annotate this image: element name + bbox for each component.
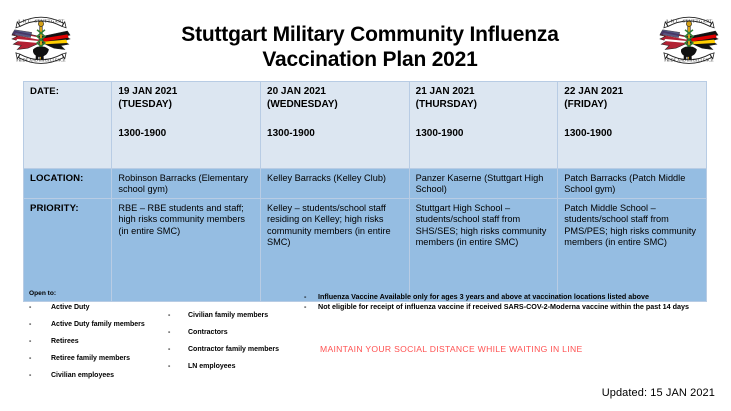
day-value-1: (WEDNESDAY) [267, 99, 338, 110]
list-item: - Civilian family members [168, 312, 298, 329]
open-to-item-7: Contractor family members [188, 346, 279, 353]
page-title-line-2: Vaccination Plan 2021 [120, 47, 620, 72]
eligibility-note-text-0: Influenza Vaccine Available only for age… [318, 292, 649, 301]
updated-timestamp: Updated: 15 JAN 2021 [602, 387, 715, 399]
notes-section: Open to: - Active Duty - Active Duty fam… [0, 290, 731, 390]
time-value-3: 1300-1900 [564, 128, 612, 139]
list-item: - Contractors [168, 329, 298, 346]
day-value-3: (FRIDAY) [564, 99, 607, 110]
open-to-item-6: Contractors [188, 329, 228, 336]
open-to-list-column-1: - Active Duty - Active Duty family membe… [29, 304, 169, 389]
open-to-item-3: Retiree family members [51, 355, 130, 362]
table-cell-priority-3: Patch Middle School – students/school st… [558, 198, 707, 301]
date-value-0: 19 JAN 2021 [118, 86, 177, 97]
stuttgart-military-community-emblem-right: A.H.C. STUTTGART PRIDE AND EXCELLENCE [655, 6, 723, 72]
open-to-item-4: Civilian employees [51, 372, 114, 379]
list-item: - Contractor family members [168, 346, 298, 363]
table-cell-date-1: 20 JAN 2021 (WEDNESDAY) 1300-1900 [261, 82, 410, 169]
eligibility-note-text-1: Not eligible for receipt of influenza va… [318, 302, 689, 311]
open-to-list-column-2: - Civilian family members - Contractors … [168, 312, 298, 380]
bullet-dash-icon: - [304, 292, 306, 302]
open-to-label: Open to: [29, 290, 56, 297]
open-to-item-1: Active Duty family members [51, 321, 145, 328]
bullet-dash-icon: - [29, 355, 31, 362]
list-item: - Retirees [29, 338, 169, 355]
page-header: A.H.C. STUTTGART PRIDE AND EXCELLENCE St… [0, 0, 731, 78]
label-priority-text: PRIORITY: [30, 203, 79, 214]
list-item: - Retiree family members [29, 355, 169, 372]
date-value-2: 21 JAN 2021 [416, 86, 475, 97]
svg-text:PRIDE AND EXCELLENCE: PRIDE AND EXCELLENCE [664, 58, 714, 62]
table-cell-location-3: Patch Barracks (Patch Middle School gym) [558, 169, 707, 199]
list-item: - Active Duty family members [29, 321, 169, 338]
page-title-line-1: Stuttgart Military Community Influenza [120, 22, 620, 47]
date-value-3: 22 JAN 2021 [564, 86, 623, 97]
table-cell-date-0: 19 JAN 2021 (TUESDAY) 1300-1900 [112, 82, 261, 169]
bullet-dash-icon: - [29, 338, 31, 345]
eligibility-note-1: - Not eligible for receipt of influenza … [304, 302, 724, 312]
table-row-priority: PRIORITY: RBE – RBE students and staff; … [24, 198, 707, 301]
bullet-dash-icon: - [168, 346, 170, 353]
time-value-0: 1300-1900 [118, 128, 166, 139]
list-item: - LN employees [168, 363, 298, 380]
day-value-0: (TUESDAY) [118, 99, 172, 110]
row-label-location: LOCATION: [24, 169, 112, 199]
time-value-2: 1300-1900 [416, 128, 464, 139]
table-row-location: LOCATION: Robinson Barracks (Elementary … [24, 169, 707, 199]
bullet-dash-icon: - [29, 372, 31, 379]
table-cell-date-2: 21 JAN 2021 (THURSDAY) 1300-1900 [409, 82, 558, 169]
vaccination-plan-table: DATE: 19 JAN 2021 (TUESDAY) 1300-1900 20… [23, 81, 707, 302]
bullet-dash-icon: - [168, 363, 170, 370]
table-cell-priority-0: RBE – RBE students and staff; high risks… [112, 198, 261, 301]
bullet-dash-icon: - [168, 329, 170, 336]
table-cell-location-1: Kelley Barracks (Kelley Club) [261, 169, 410, 199]
social-distance-warning: MAINTAIN YOUR SOCIAL DISTANCE WHILE WAIT… [320, 344, 582, 354]
table-cell-date-3: 22 JAN 2021 (FRIDAY) 1300-1900 [558, 82, 707, 169]
bullet-dash-icon: - [29, 304, 31, 311]
eligibility-note-0: - Influenza Vaccine Available only for a… [304, 292, 724, 302]
stuttgart-military-community-emblem-left: A.H.C. STUTTGART PRIDE AND EXCELLENCE [7, 6, 75, 72]
list-item: - Civilian employees [29, 372, 169, 389]
table-cell-priority-2: Stuttgart High School – students/school … [409, 198, 558, 301]
svg-text:PRIDE AND EXCELLENCE: PRIDE AND EXCELLENCE [16, 58, 66, 62]
open-to-item-0: Active Duty [51, 304, 90, 311]
eligibility-notes: - Influenza Vaccine Available only for a… [304, 292, 724, 313]
row-label-priority: PRIORITY: [24, 198, 112, 301]
open-to-item-2: Retirees [51, 338, 79, 345]
label-date-text: DATE: [30, 86, 59, 97]
row-label-date: DATE: [24, 82, 112, 169]
table-cell-location-0: Robinson Barracks (Elementary school gym… [112, 169, 261, 199]
time-value-1: 1300-1900 [267, 128, 315, 139]
day-value-2: (THURSDAY) [416, 99, 477, 110]
date-value-1: 20 JAN 2021 [267, 86, 326, 97]
list-item: - Active Duty [29, 304, 169, 321]
open-to-item-5: Civilian family members [188, 312, 268, 319]
page-title: Stuttgart Military Community Influenza V… [120, 22, 620, 72]
open-to-item-8: LN employees [188, 363, 235, 370]
bullet-dash-icon: - [168, 312, 170, 319]
table-cell-priority-1: Kelley – students/school staff residing … [261, 198, 410, 301]
bullet-dash-icon: - [304, 302, 306, 312]
table-cell-location-2: Panzer Kaserne (Stuttgart High School) [409, 169, 558, 199]
bullet-dash-icon: - [29, 321, 31, 328]
label-location-text: LOCATION: [30, 173, 83, 184]
table-row-date: DATE: 19 JAN 2021 (TUESDAY) 1300-1900 20… [24, 82, 707, 169]
